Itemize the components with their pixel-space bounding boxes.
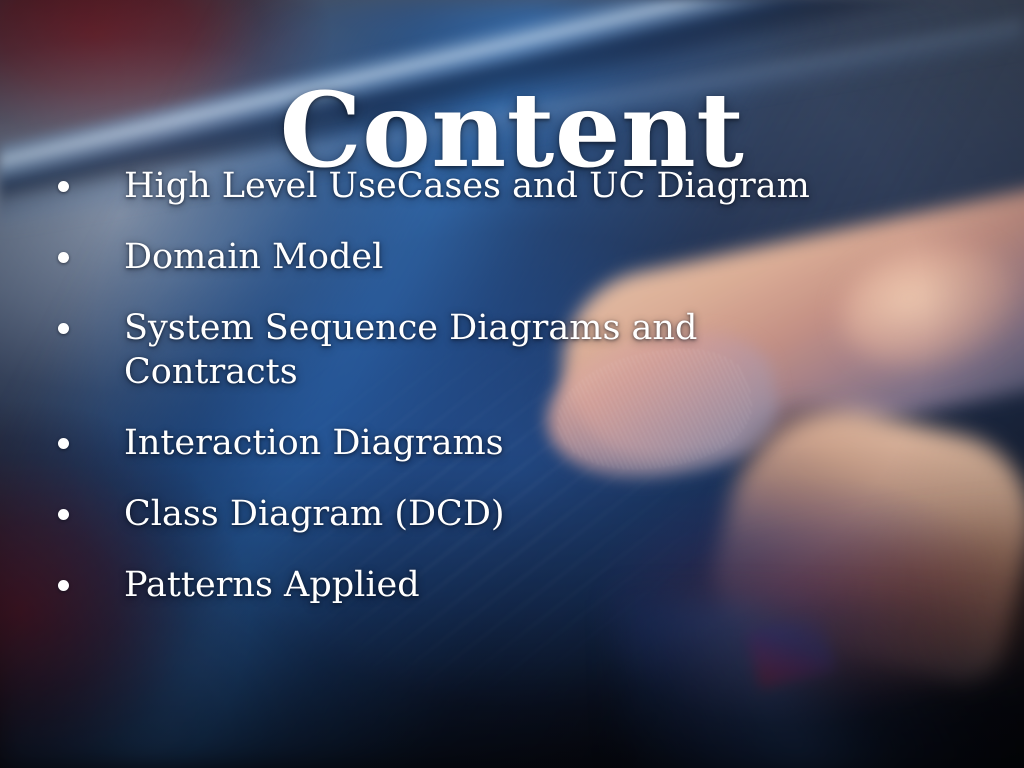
list-item-label: Class Diagram (DCD) xyxy=(124,492,934,537)
list-item: High Level UseCases and UC Diagram xyxy=(0,164,1024,209)
list-item-label: Patterns Applied xyxy=(124,563,934,608)
list-item-label: High Level UseCases and UC Diagram xyxy=(124,164,934,209)
list-item: System Sequence Diagrams and Contracts xyxy=(0,306,1024,396)
list-item-label: Domain Model xyxy=(124,235,934,280)
slide-content: Content High Level UseCases and UC Diagr… xyxy=(0,0,1024,768)
content-bullet-list: High Level UseCases and UC Diagram Domai… xyxy=(0,164,1024,634)
list-item-label: Interaction Diagrams xyxy=(124,421,934,466)
list-item-label: System Sequence Diagrams and Contracts xyxy=(124,306,774,396)
list-item: Domain Model xyxy=(0,235,1024,280)
list-item: Patterns Applied xyxy=(0,563,1024,608)
list-item: Interaction Diagrams xyxy=(0,421,1024,466)
presentation-slide: Content High Level UseCases and UC Diagr… xyxy=(0,0,1024,768)
list-item: Class Diagram (DCD) xyxy=(0,492,1024,537)
